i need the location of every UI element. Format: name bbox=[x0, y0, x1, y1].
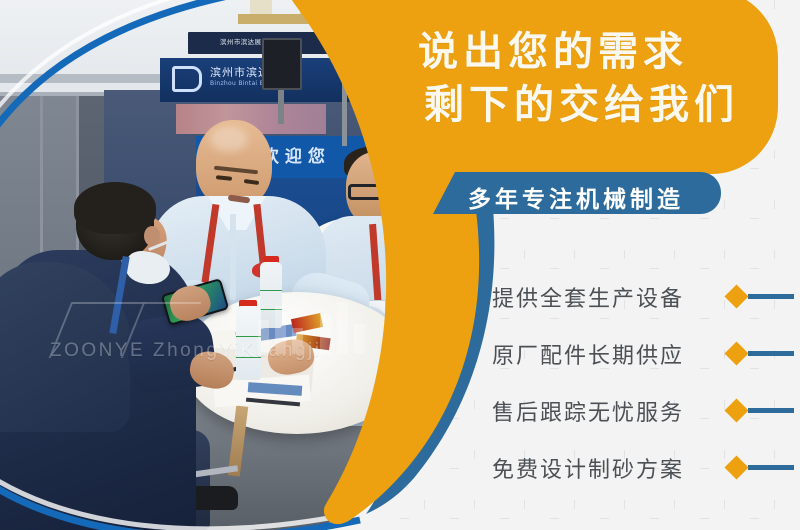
dash-line-icon bbox=[748, 294, 794, 299]
feature-label: 售后跟踪无忧服务 bbox=[492, 395, 684, 427]
feature-marker bbox=[728, 288, 794, 305]
feature-list: 提供全套生产设备 原厂配件长期供应 售后跟踪无忧服务 免费设计制砂方案 bbox=[492, 268, 792, 496]
list-item: 提供全套生产设备 bbox=[492, 268, 792, 325]
subtitle-text: 多年专注机械制造 bbox=[468, 180, 684, 214]
diamond-icon bbox=[724, 455, 748, 479]
feature-marker bbox=[728, 459, 794, 476]
dash-line-icon bbox=[748, 351, 794, 356]
diamond-icon bbox=[724, 284, 748, 308]
list-item: 原厂配件长期供应 bbox=[492, 325, 792, 382]
feature-label: 免费设计制砂方案 bbox=[492, 452, 684, 484]
headline-line-2: 剩下的交给我们 bbox=[418, 79, 788, 132]
feature-marker bbox=[728, 345, 794, 362]
headline-line-1: 说出您的需求 bbox=[418, 26, 788, 79]
dash-line-icon bbox=[748, 465, 794, 470]
diamond-icon bbox=[724, 341, 748, 365]
page-title: 说出您的需求 剩下的交给我们 bbox=[418, 26, 788, 132]
feature-marker bbox=[728, 402, 794, 419]
list-item: 免费设计制砂方案 bbox=[492, 439, 792, 496]
dash-line-icon bbox=[748, 408, 794, 413]
promotional-banner: 滨州市滨达展览有限公司 滨州市滨达 Binzhou Bintai Exhibit… bbox=[0, 0, 800, 530]
diamond-icon bbox=[724, 398, 748, 422]
list-item: 售后跟踪无忧服务 bbox=[492, 382, 792, 439]
feature-label: 提供全套生产设备 bbox=[492, 281, 684, 313]
feature-label: 原厂配件长期供应 bbox=[492, 338, 684, 370]
